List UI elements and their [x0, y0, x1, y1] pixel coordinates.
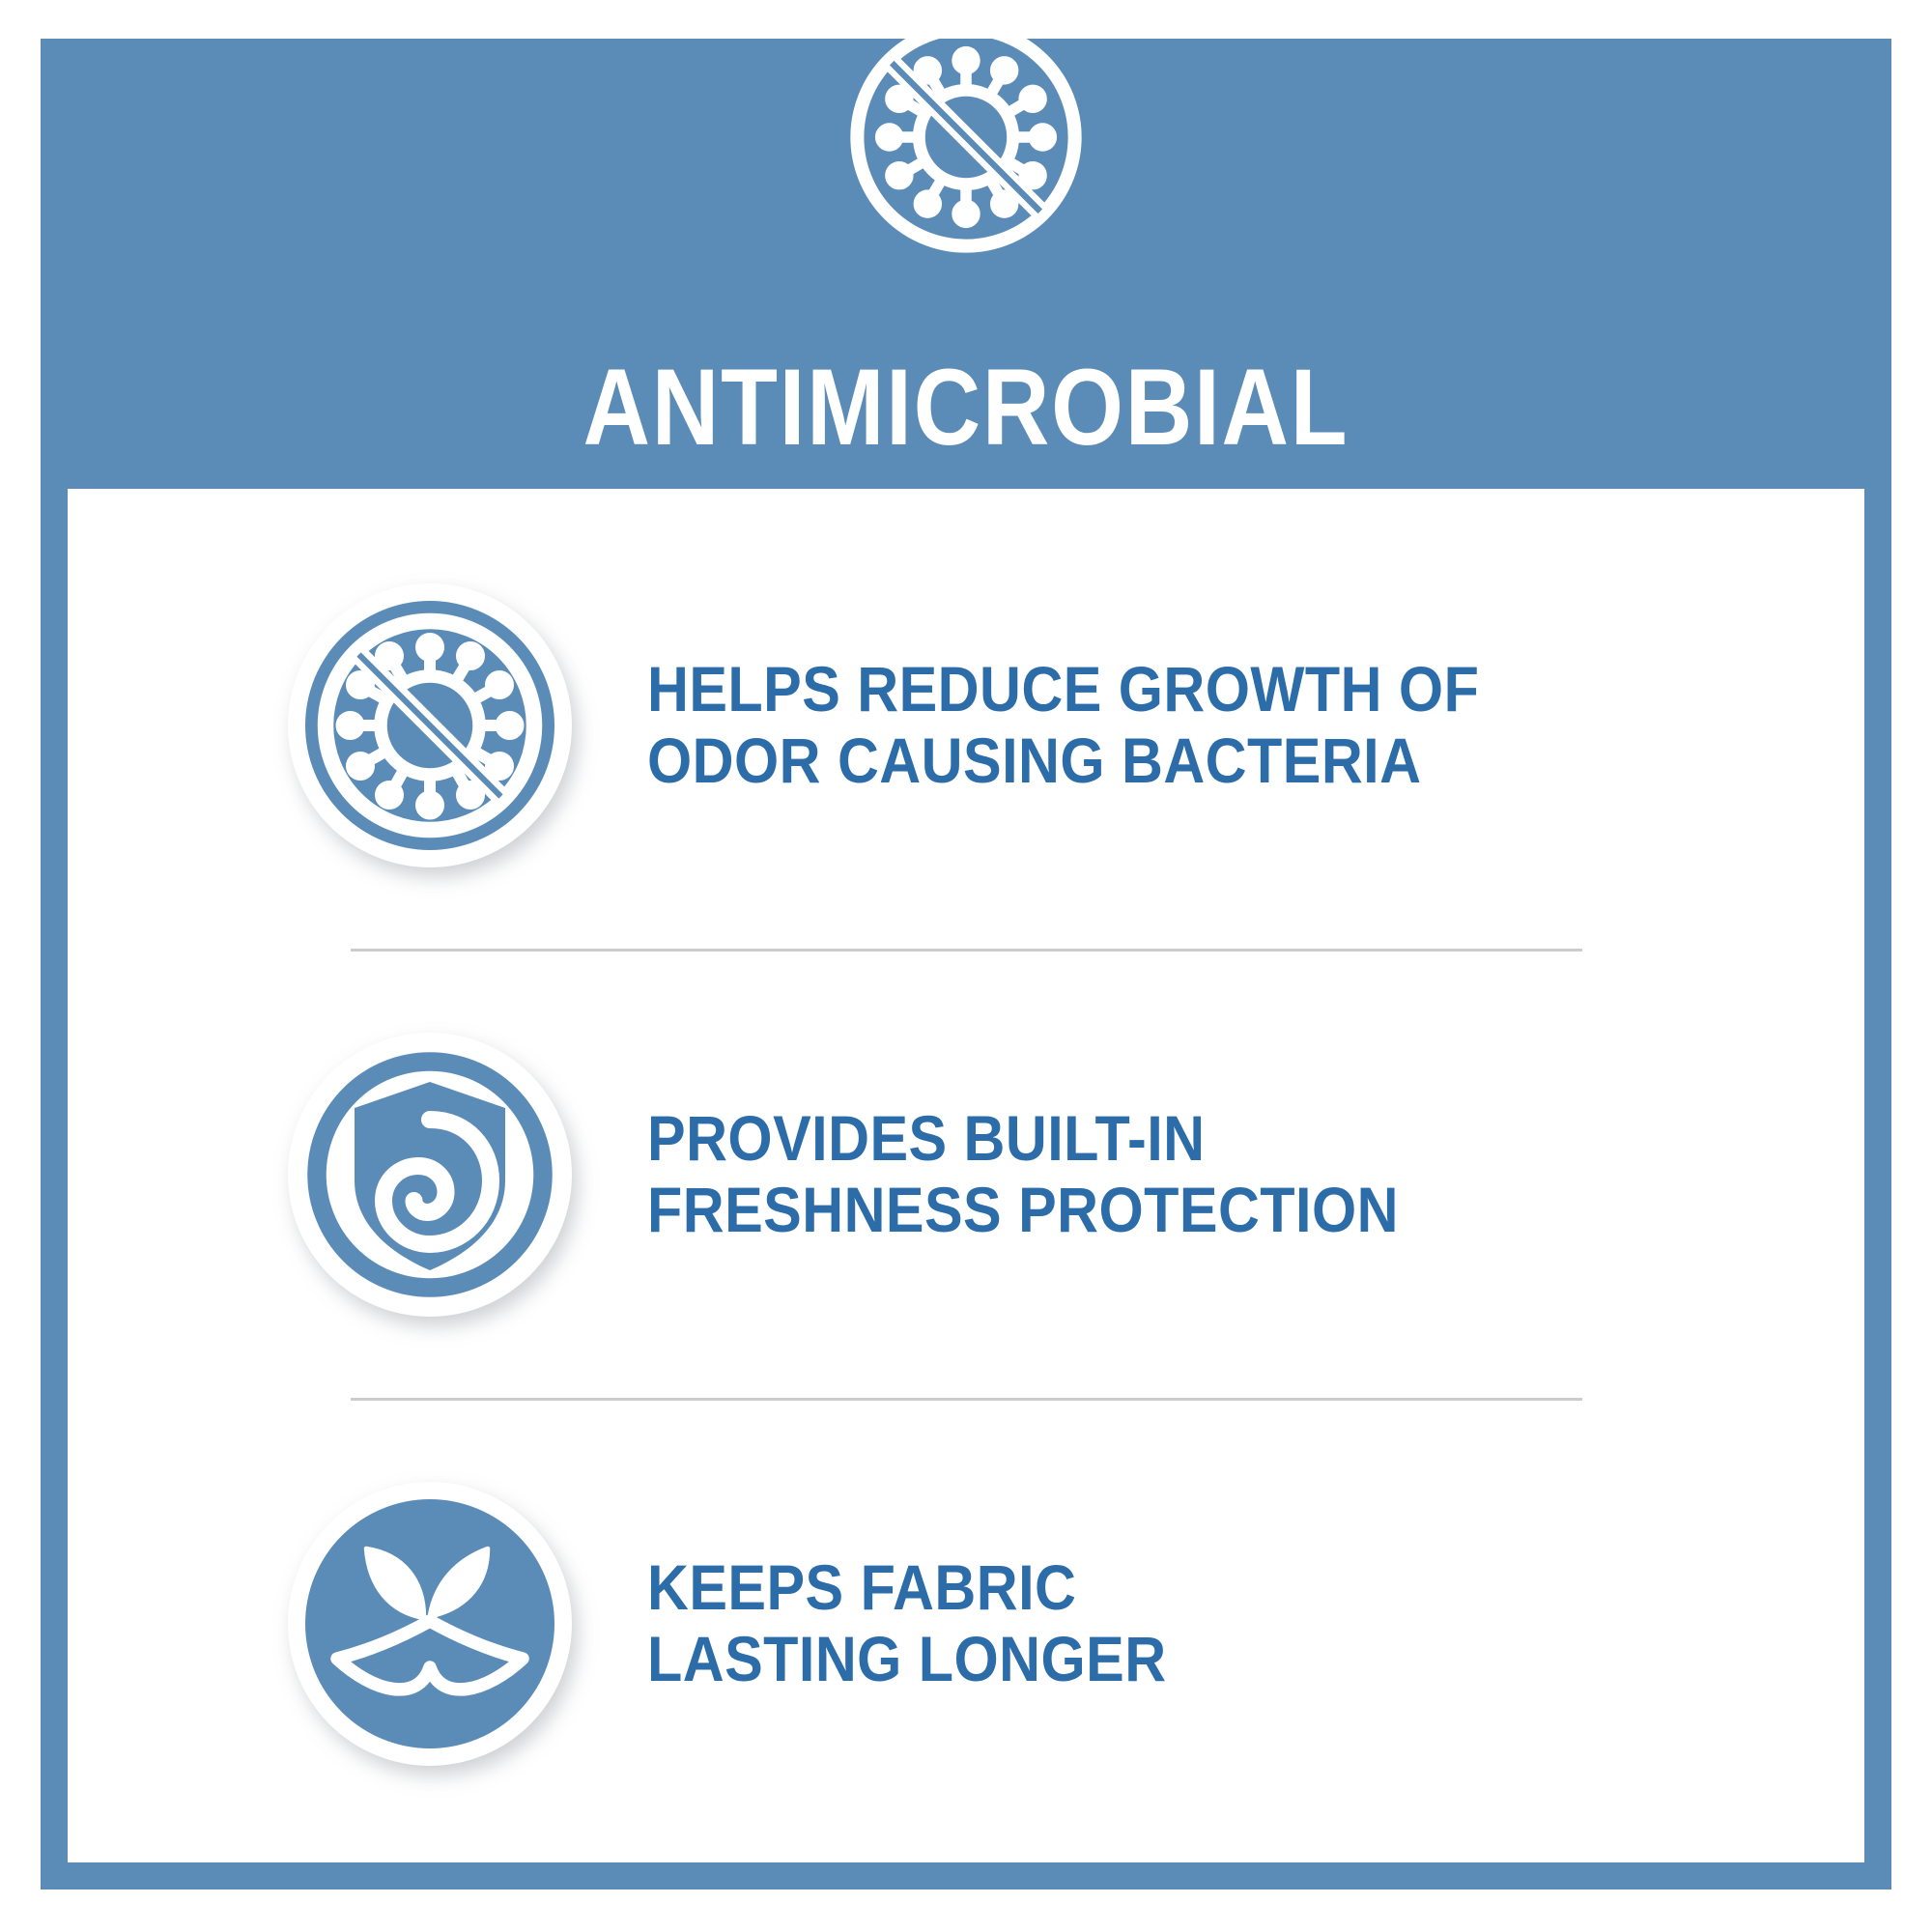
feature-line-1: PROVIDES BUILT-IN	[647, 1103, 1399, 1175]
feature-row: KEEPS FABRIC LASTING LONGER	[68, 1416, 1864, 1832]
feature-row: HELPS REDUCE GROWTH OF ODOR CAUSING BACT…	[68, 518, 1864, 933]
feature-line-2: LASTING LONGER	[647, 1624, 1167, 1695]
feature-label: KEEPS FABRIC LASTING LONGER	[647, 1552, 1167, 1695]
content-panel: HELPS REDUCE GROWTH OF ODOR CAUSING BACT…	[68, 489, 1864, 1861]
antimicrobial-infographic: ANTIMICROBIAL	[0, 0, 1932, 1932]
shield-freshness-icon	[285, 1030, 575, 1320]
feature-label: PROVIDES BUILT-IN FRESHNESS PROTECTION	[647, 1103, 1399, 1246]
feature-label: HELPS REDUCE GROWTH OF ODOR CAUSING BACT…	[647, 654, 1479, 797]
no-germ-icon	[285, 581, 575, 870]
no-germ-icon	[842, 14, 1090, 261]
feature-list: HELPS REDUCE GROWTH OF ODOR CAUSING BACT…	[68, 489, 1864, 1861]
row-divider	[351, 1398, 1582, 1401]
page-title: ANTIMICROBIAL	[583, 354, 1350, 462]
row-divider	[351, 949, 1582, 952]
leaf-sprout-icon	[285, 1479, 575, 1769]
feature-line-2: ODOR CAUSING BACTERIA	[647, 725, 1479, 797]
feature-line-1: KEEPS FABRIC	[647, 1552, 1167, 1624]
feature-line-1: HELPS REDUCE GROWTH OF	[647, 654, 1479, 725]
feature-row: PROVIDES BUILT-IN FRESHNESS PROTECTION	[68, 967, 1864, 1382]
feature-line-2: FRESHNESS PROTECTION	[647, 1175, 1399, 1246]
